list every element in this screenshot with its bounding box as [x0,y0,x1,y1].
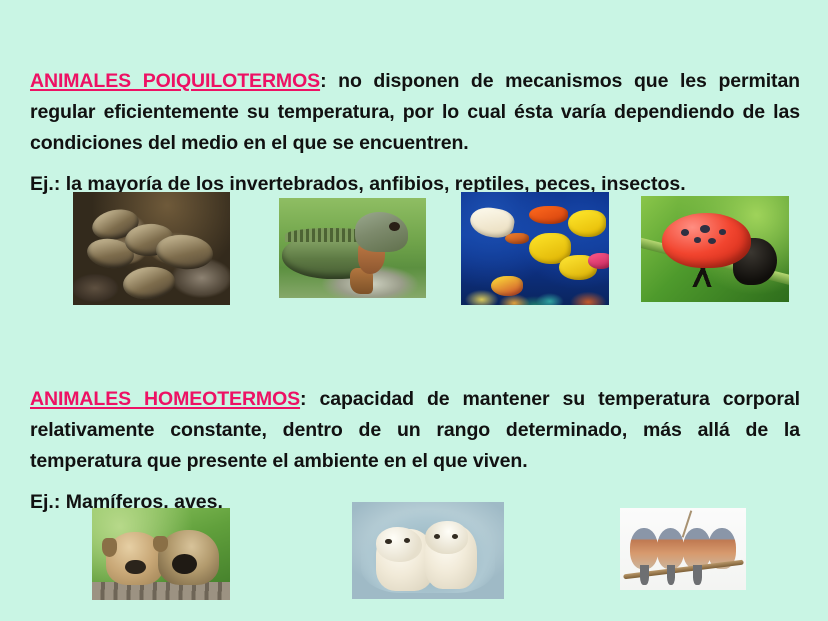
cub-head [376,527,422,562]
image-puppies: Dos cachorros sobre un muro de piedra [92,508,230,600]
turtle-shell [155,232,215,272]
image-iguana: Iguana verde sobre roca y hierba [279,198,426,298]
ladybug-elytra [662,213,751,268]
cub-head [425,521,468,554]
fish-pink [588,253,609,269]
fish-orange [529,206,567,224]
ladybug-spot [694,237,701,243]
iguana-scene [279,198,426,298]
fish-scene [461,192,609,305]
homeotermos-term: ANIMALES HOMEOTERMOS [30,388,300,410]
image-ladybug: Mariquita roja sobre un tallo verde [641,196,789,302]
image-turtles: Tortugas sobre suelo oscuro [73,192,230,305]
stone-ledge [92,582,230,600]
bird-tail [640,565,649,585]
ladybug-spot [708,238,716,244]
cub-eye [404,538,410,543]
ladybug-spot [719,229,726,235]
homeotermos-paragraph: ANIMALES HOMEOTERMOS: capacidad de mante… [30,384,800,477]
turtles-scene [73,192,230,305]
puppies-scene [92,508,230,600]
iguana-eye [389,222,399,231]
fish-yellow [568,210,606,237]
image-birds: Cuatro pájaros posados en una rama [620,508,746,590]
ladybug-spot [700,225,710,233]
image-polar-bear-cubs: Dos oseznos polares en la nieve [352,502,504,599]
puppy-ear [153,536,168,553]
bird [657,528,685,569]
puppy-muzzle [125,560,146,575]
bears-scene [352,502,504,599]
bird-tail [667,565,676,585]
puppy-muzzle [172,554,197,574]
turtle-shell [122,264,177,301]
ladybug-spot [681,229,689,236]
image-tropical-fish: Peces tropicales en arrecife de coral [461,192,609,305]
bird [630,528,658,569]
fish-red [491,276,524,296]
birds-scene [620,508,746,590]
poiquilotermos-term: ANIMALES POIQUILOTERMOS [30,70,320,92]
bird [683,528,711,569]
slide-canvas: ANIMALES POIQUILOTERMOS: no disponen de … [0,0,828,621]
poiquilotermos-paragraph: ANIMALES POIQUILOTERMOS: no disponen de … [30,66,800,159]
puppy-ear [102,538,117,556]
fish-small [505,233,529,244]
bird-tail [693,565,702,585]
cub-eye [434,534,440,539]
ladybug-scene [641,196,789,302]
cub-eye [385,539,391,544]
iguana-head [355,212,408,252]
